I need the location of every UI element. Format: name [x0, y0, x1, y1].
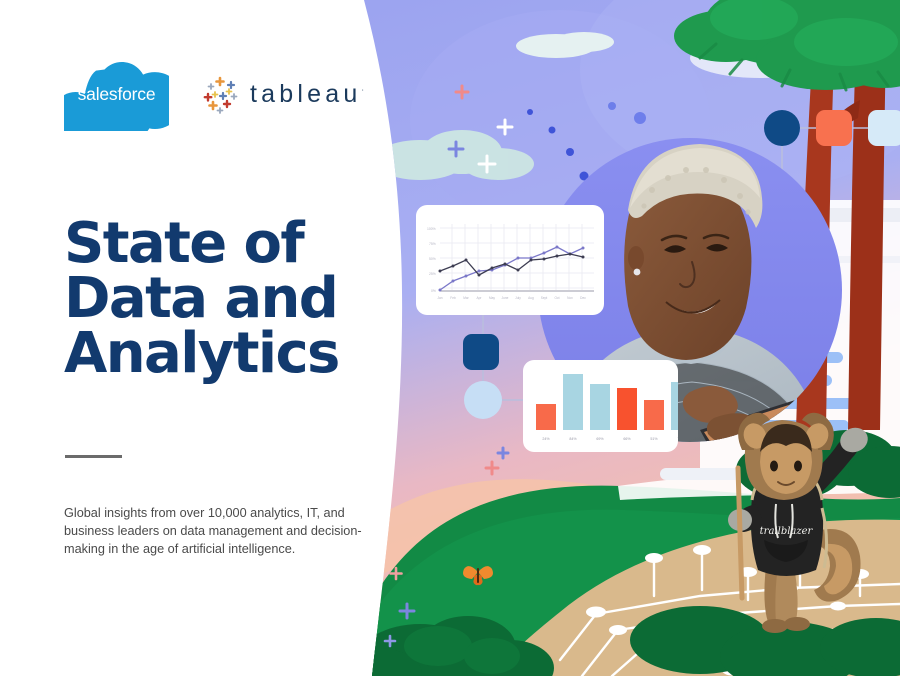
report-cover-page: trailblazer — [0, 0, 900, 676]
tableau-registered-mark: · — [361, 85, 364, 94]
page-title-line-1: State of — [64, 216, 404, 271]
page-subtitle: Global insights from over 10,000 analyti… — [64, 504, 376, 558]
svg-text:May: May — [489, 296, 495, 300]
svg-text:trailblazer: trailblazer — [760, 526, 814, 537]
tableau-wordmark-text: tableau — [250, 80, 361, 108]
svg-text:66%: 66% — [623, 437, 631, 441]
svg-text:Sept: Sept — [541, 296, 548, 300]
svg-text:84%: 84% — [569, 437, 577, 441]
brand-logo-row: salesforce — [64, 57, 364, 131]
svg-text:24%: 24% — [542, 437, 550, 441]
svg-text:June: June — [502, 296, 509, 300]
svg-text:Nov: Nov — [567, 296, 573, 300]
svg-text:July: July — [515, 296, 521, 300]
page-title-line-2: Data and — [64, 271, 404, 326]
svg-text:Mar: Mar — [463, 296, 469, 300]
svg-text:Jan: Jan — [437, 296, 442, 300]
salesforce-wordmark: salesforce — [64, 57, 169, 131]
tableau-wordmark: tableau· — [250, 80, 364, 109]
page-title-line-3: Analytics — [64, 326, 404, 381]
svg-text:Dec: Dec — [580, 296, 586, 300]
svg-text:25%: 25% — [429, 272, 436, 276]
svg-text:Aug: Aug — [528, 296, 534, 300]
svg-text:75%: 75% — [429, 242, 436, 246]
svg-text:50%: 50% — [429, 257, 436, 261]
page-title: State of Data and Analytics — [64, 216, 404, 381]
svg-text:Feb: Feb — [450, 296, 456, 300]
svg-text:0%: 0% — [431, 289, 436, 293]
svg-text:51%: 51% — [650, 437, 658, 441]
title-divider — [65, 455, 122, 458]
svg-text:100%: 100% — [427, 227, 436, 231]
svg-text:69%: 69% — [596, 437, 604, 441]
svg-text:Oct: Oct — [555, 296, 560, 300]
cover-text-panel: salesforce — [0, 0, 420, 676]
tableau-logo: tableau· — [201, 74, 364, 114]
tableau-plus-mark-icon — [201, 74, 243, 114]
salesforce-cloud-icon: salesforce — [64, 57, 169, 131]
